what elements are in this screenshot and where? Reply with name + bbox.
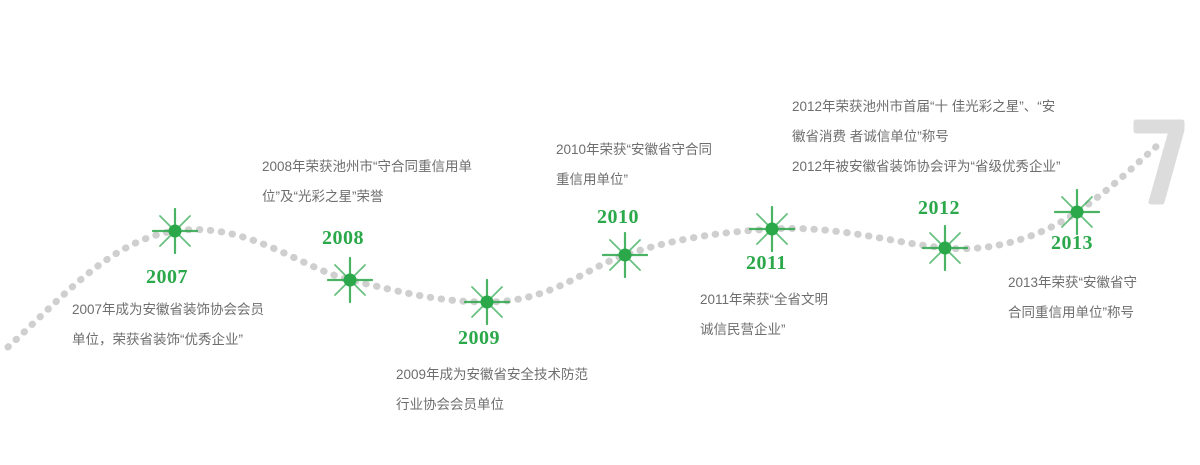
description-line: 2010年荣获“安徽省守合同 — [556, 135, 712, 165]
milestone-description-2012: 2012年荣获池州市首届“十 佳光彩之星”、“安徽省消费 者诚信单位”称号201… — [792, 92, 1061, 182]
timeline-infographic: 20072007年成为安徽省装饰协会会员单位，荣获省装饰“优秀企业”200820… — [0, 0, 1200, 465]
description-line: 位”及“光彩之星”荣誉 — [262, 182, 472, 212]
year-label-2007: 2007 — [146, 266, 188, 289]
milestone-star-icon-2007 — [152, 208, 198, 254]
milestone-description-2011: 2011年荣获“全省文明诚信民营企业” — [700, 285, 828, 345]
milestone-description-2013: 2013年荣获“安徽省守合同重信用单位”称号 — [1008, 268, 1137, 328]
year-label-2013: 2013 — [1051, 232, 1093, 255]
description-line: 合同重信用单位”称号 — [1008, 298, 1137, 328]
year-label-2012: 2012 — [918, 197, 960, 220]
milestone-star-icon-2009 — [464, 279, 510, 325]
seven-arrow-icon — [1132, 112, 1192, 212]
description-line: 诚信民营企业” — [700, 315, 828, 345]
milestone-star-icon-2011 — [749, 206, 795, 252]
milestone-description-2010: 2010年荣获“安徽省守合同重信用单位” — [556, 135, 712, 195]
description-line: 2009年成为安徽省安全技术防范 — [396, 360, 588, 390]
milestone-star-icon-2008 — [327, 257, 373, 303]
milestone-description-2009: 2009年成为安徽省安全技术防范行业协会会员单位 — [396, 360, 588, 420]
milestone-description-2007: 2007年成为安徽省装饰协会会员单位，荣获省装饰“优秀企业” — [72, 295, 264, 355]
year-label-2010: 2010 — [597, 206, 639, 229]
milestone-star-icon-2012 — [922, 225, 968, 271]
year-label-2008: 2008 — [322, 227, 364, 250]
description-line: 行业协会会员单位 — [396, 390, 588, 420]
milestone-star-icon-2013 — [1054, 189, 1100, 235]
description-line: 2013年荣获“安徽省守 — [1008, 268, 1137, 298]
year-label-2009: 2009 — [458, 327, 500, 350]
description-line: 2012年被安徽省装饰协会评为“省级优秀企业” — [792, 152, 1061, 182]
description-line: 2011年荣获“全省文明 — [700, 285, 828, 315]
milestone-star-icon-2010 — [602, 232, 648, 278]
milestone-description-2008: 2008年荣获池州市“守合同重信用单位”及“光彩之星”荣誉 — [262, 152, 472, 212]
description-line: 重信用单位” — [556, 165, 712, 195]
year-label-2011: 2011 — [746, 252, 787, 275]
description-line: 2008年荣获池州市“守合同重信用单 — [262, 152, 472, 182]
description-line: 徽省消费 者诚信单位”称号 — [792, 122, 1061, 152]
description-line: 单位，荣获省装饰“优秀企业” — [72, 325, 264, 355]
description-line: 2012年荣获池州市首届“十 佳光彩之星”、“安 — [792, 92, 1061, 122]
description-line: 2007年成为安徽省装饰协会会员 — [72, 295, 264, 325]
